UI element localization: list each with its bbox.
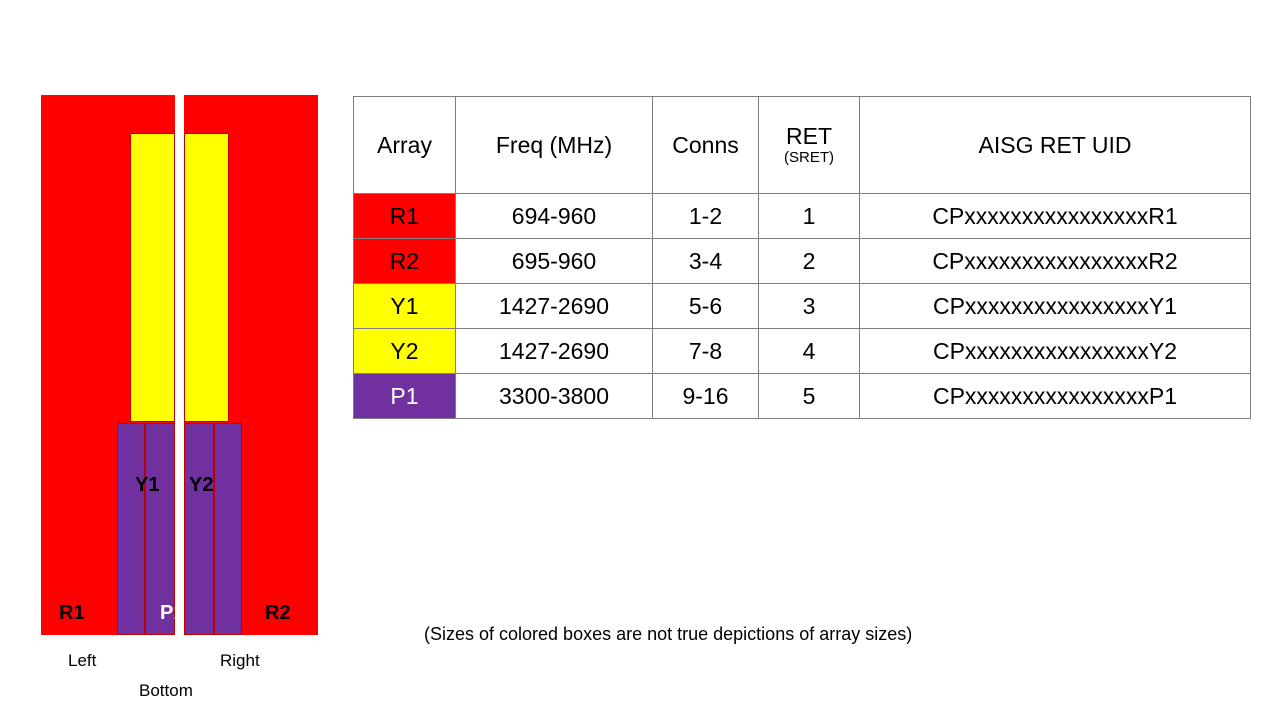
- cell-conns: 5-6: [653, 284, 759, 329]
- cell-uid: CPxxxxxxxxxxxxxxxxY2: [860, 329, 1251, 374]
- column-header-conns: Conns: [653, 97, 759, 194]
- antenna-array-diagram: Y1 Y2 R1 P1 R2: [41, 95, 318, 635]
- cell-uid: CPxxxxxxxxxxxxxxxxP1: [860, 374, 1251, 419]
- ret-configuration-table: Array Freq (MHz) Conns RET (SRET) AISG R…: [353, 96, 1251, 419]
- cell-ret: 3: [759, 284, 860, 329]
- cell-freq: 3300-3800: [456, 374, 653, 419]
- table-header-row: Array Freq (MHz) Conns RET (SRET) AISG R…: [354, 97, 1251, 194]
- cell-conns: 9-16: [653, 374, 759, 419]
- array-block-p1-strip-4: [214, 423, 242, 635]
- column-header-ret-sub: (SRET): [759, 149, 859, 167]
- cell-freq: 695-960: [456, 239, 653, 284]
- column-header-ret: RET (SRET): [759, 97, 860, 194]
- orientation-label-bottom: Bottom: [139, 682, 193, 699]
- cell-array-p1: P1: [354, 374, 456, 419]
- cell-uid: CPxxxxxxxxxxxxxxxxR2: [860, 239, 1251, 284]
- orientation-label-left: Left: [68, 652, 96, 669]
- table-row: P13300-38009-165CPxxxxxxxxxxxxxxxxP1: [354, 374, 1251, 419]
- diagram-label-y1: Y1: [135, 475, 159, 495]
- cell-array-r1: R1: [354, 194, 456, 239]
- array-block-p1-strip-3: [184, 423, 214, 635]
- table-row: Y21427-26907-84CPxxxxxxxxxxxxxxxxY2: [354, 329, 1251, 374]
- column-header-array: Array: [354, 97, 456, 194]
- cell-array-y2: Y2: [354, 329, 456, 374]
- cell-freq: 1427-2690: [456, 284, 653, 329]
- cell-conns: 7-8: [653, 329, 759, 374]
- diagram-label-y2: Y2: [189, 475, 213, 495]
- cell-ret: 4: [759, 329, 860, 374]
- cell-uid: CPxxxxxxxxxxxxxxxxR1: [860, 194, 1251, 239]
- cell-ret: 1: [759, 194, 860, 239]
- orientation-label-right: Right: [220, 652, 260, 669]
- cell-ret: 5: [759, 374, 860, 419]
- diagram-label-p1: P1: [160, 603, 184, 623]
- cell-freq: 1427-2690: [456, 329, 653, 374]
- array-block-p1-strip-1: [117, 423, 145, 635]
- cell-conns: 3-4: [653, 239, 759, 284]
- cell-ret: 2: [759, 239, 860, 284]
- cell-uid: CPxxxxxxxxxxxxxxxxY1: [860, 284, 1251, 329]
- column-header-uid: AISG RET UID: [860, 97, 1251, 194]
- diagram-label-r1: R1: [59, 603, 85, 623]
- array-block-y2: [184, 133, 229, 422]
- cell-freq: 694-960: [456, 194, 653, 239]
- column-header-freq: Freq (MHz): [456, 97, 653, 194]
- diagram-label-r2: R2: [265, 603, 291, 623]
- table-row: R1694-9601-21CPxxxxxxxxxxxxxxxxR1: [354, 194, 1251, 239]
- cell-array-y1: Y1: [354, 284, 456, 329]
- size-disclaimer-caption: (Sizes of colored boxes are not true dep…: [424, 625, 912, 643]
- column-header-ret-main: RET: [759, 123, 859, 149]
- cell-array-r2: R2: [354, 239, 456, 284]
- table-row: R2695-9603-42CPxxxxxxxxxxxxxxxxR2: [354, 239, 1251, 284]
- cell-conns: 1-2: [653, 194, 759, 239]
- table-row: Y11427-26905-63CPxxxxxxxxxxxxxxxxY1: [354, 284, 1251, 329]
- array-block-y1: [130, 133, 175, 422]
